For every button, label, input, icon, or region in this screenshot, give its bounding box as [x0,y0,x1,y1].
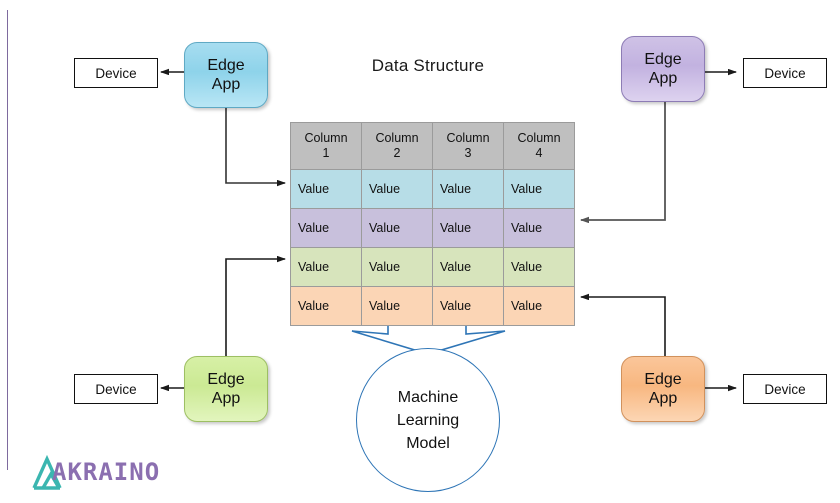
table-cell: Value [362,209,433,248]
edge-app-label-line1: Edge [644,371,681,388]
header-index: 4 [536,146,543,160]
diagram-canvas: Data Structure [0,0,840,503]
table-header-cell: Column 4 [504,123,575,170]
header-word: Column [517,131,560,145]
header-word: Column [375,131,418,145]
edge-app-label-line2: App [649,390,677,407]
ml-label-line3: Model [406,435,450,452]
akraino-wordmark: AKRAINO [52,458,160,486]
table-cell: Value [433,209,504,248]
table-row: Value Value Value Value [291,209,575,248]
arrow-edgeapp-tr-to-row2 [581,100,665,220]
arrow-edgeapp-tl-to-row1 [226,106,285,183]
table-header-cell: Column 1 [291,123,362,170]
left-margin-rule [7,10,8,470]
ml-label-line2: Learning [397,412,459,429]
table-row: Value Value Value Value [291,248,575,287]
table-header-cell: Column 3 [433,123,504,170]
ml-label-line1: Machine [398,389,458,406]
edge-app-bottom-right[interactable]: Edge App [621,356,705,422]
edge-app-label-line2: App [649,70,677,87]
edge-app-top-right[interactable]: Edge App [621,36,705,102]
edge-app-top-left[interactable]: Edge App [184,42,268,108]
header-word: Column [304,131,347,145]
table-cell: Value [433,170,504,209]
table-cell: Value [504,170,575,209]
data-structure-table: Column 1 Column 2 Column 3 Column 4 [290,122,575,326]
table-cell: Value [291,248,362,287]
header-index: 1 [323,146,330,160]
table-row: Value Value Value Value [291,287,575,326]
device-top-right[interactable]: Device [743,58,827,88]
table-cell: Value [291,170,362,209]
table-cell: Value [362,248,433,287]
edge-app-label-line1: Edge [207,57,244,74]
table-cell: Value [362,170,433,209]
table-cell: Value [291,287,362,326]
device-bottom-right[interactable]: Device [743,374,827,404]
table-header-row: Column 1 Column 2 Column 3 Column 4 [291,123,575,170]
table-cell: Value [362,287,433,326]
table-cell: Value [291,209,362,248]
table-cell: Value [433,287,504,326]
device-top-left[interactable]: Device [74,58,158,88]
table-cell: Value [433,248,504,287]
edge-app-label-line2: App [212,76,240,93]
page-title: Data Structure [328,56,528,76]
header-index: 3 [465,146,472,160]
table-cell: Value [504,248,575,287]
header-word: Column [446,131,489,145]
arrow-edgeapp-bl-to-row3 [226,259,285,356]
table-header-cell: Column 2 [362,123,433,170]
machine-learning-model-node[interactable]: Machine Learning Model [356,348,500,492]
edge-app-bottom-left[interactable]: Edge App [184,356,268,422]
edge-app-label-line1: Edge [207,371,244,388]
edge-app-label-line2: App [212,390,240,407]
header-index: 2 [394,146,401,160]
device-bottom-left[interactable]: Device [74,374,158,404]
table-cell: Value [504,209,575,248]
table-cell: Value [504,287,575,326]
edge-app-label-line1: Edge [644,51,681,68]
table-row: Value Value Value Value [291,170,575,209]
arrow-edgeapp-br-to-row4 [581,297,665,356]
